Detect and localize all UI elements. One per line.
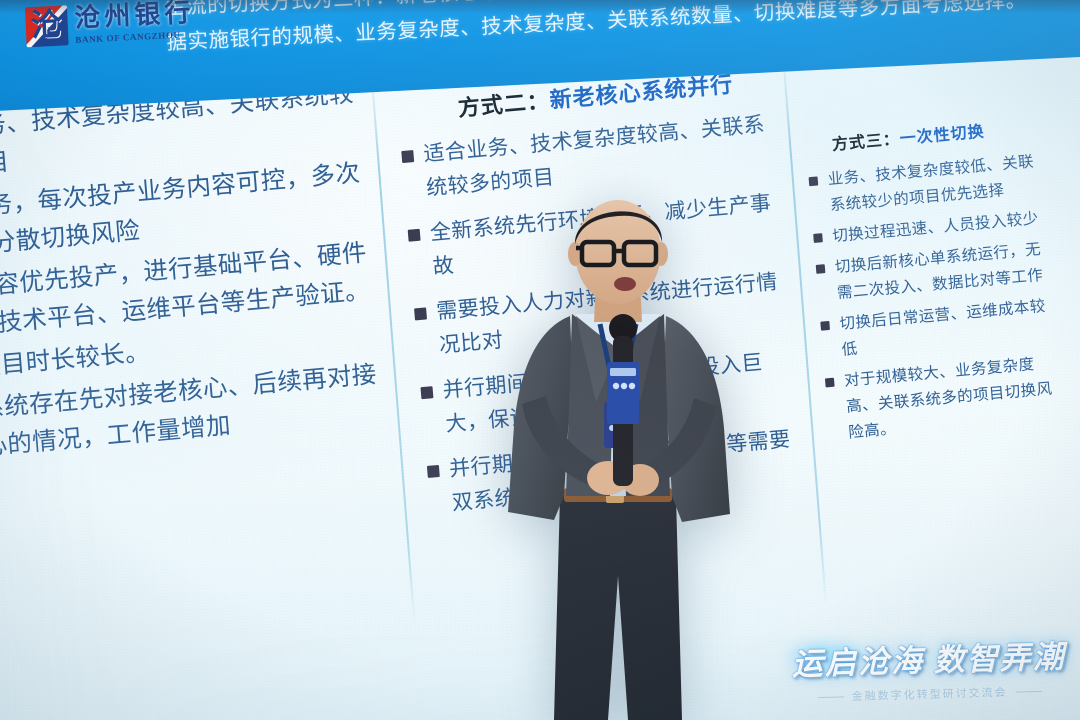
speaker-mouth	[614, 277, 636, 291]
square-bullet-icon	[414, 307, 427, 320]
banner-text: 主流的切换方式为三种：新老核心系统并行使用、新核心分步骤投产、一次性切换。切换方…	[164, 0, 1080, 60]
square-bullet-icon	[809, 176, 819, 186]
bank-logo-glyph: 沧	[30, 8, 62, 44]
event-watermark: 运启沧海 数智弄潮 金融数字化转型研讨交流会	[791, 631, 1067, 706]
square-bullet-icon	[825, 378, 835, 388]
bank-logo-mark-icon: 沧	[25, 5, 69, 47]
square-bullet-icon	[420, 386, 433, 399]
event-slogan: 运启沧海 数智弄潮	[791, 631, 1066, 684]
slide-column-3: 方式三：一次性切换 业务、技术复杂度较低、关联系统较少的项目优先选择 切换过程迅…	[805, 113, 1066, 454]
square-bullet-icon	[820, 321, 830, 331]
square-bullet-icon	[813, 233, 823, 243]
square-bullet-icon	[401, 150, 414, 163]
bank-name-cn: 沧州银行	[74, 0, 195, 31]
conference-photo: 信创环境的切换方式 主流的切换方式为三种：新老核心系统并行使用、新核心分步骤投产…	[0, 0, 1080, 720]
rule-left	[818, 696, 844, 698]
rule-right	[1016, 690, 1042, 692]
square-bullet-icon	[408, 229, 421, 242]
column-3-bullet: 对于规模较大、业务复杂度高、关联系统多的项目切换风险高。	[824, 350, 1065, 448]
square-bullet-icon	[816, 264, 826, 274]
speaker-figure	[468, 196, 768, 720]
speaker-trousers	[554, 496, 682, 720]
square-bullet-icon	[427, 465, 440, 478]
column-3-title: 方式三：一次性切换	[831, 113, 1042, 155]
